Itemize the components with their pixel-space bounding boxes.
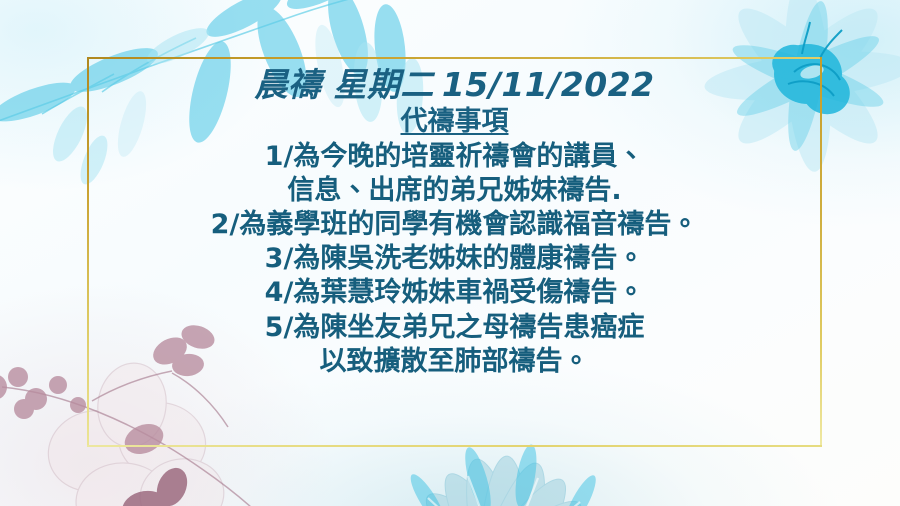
prayer-item: 3/為陳吳洗老姊妹的體康禱告。 [87, 242, 822, 276]
subtitle-underlined-text: 代禱事項 [401, 106, 509, 137]
title-date-text: 15/11/2022 [434, 65, 655, 104]
prayer-item: 信息、出席的弟兄姊妹禱告. [87, 174, 822, 208]
prayer-item: 4/為葉慧玲姊妹車禍受傷禱告。 [87, 276, 822, 310]
title-main-text: 晨禱 星期二 [254, 65, 434, 104]
slide-title: 晨禱 星期二15/11/2022 [87, 57, 822, 104]
slide-content: 晨禱 星期二15/11/2022 代禱事項 1/為今晚的培靈祈禱會的講員、 信息… [87, 57, 822, 447]
slide-subtitle: 代禱事項 [87, 106, 822, 138]
prayer-item: 2/為義學班的同學有機會認識福音禱告。 [87, 208, 822, 242]
prayer-item: 5/為陳坐友弟兄之母禱告患癌症 [87, 311, 822, 345]
prayer-slide: 晨禱 星期二15/11/2022 代禱事項 1/為今晚的培靈祈禱會的講員、 信息… [0, 0, 900, 506]
prayer-item-list: 1/為今晚的培靈祈禱會的講員、 信息、出席的弟兄姊妹禱告. 2/為義學班的同學有… [87, 140, 822, 379]
prayer-item: 以致擴散至肺部禱告。 [87, 345, 822, 379]
prayer-item: 1/為今晚的培靈祈禱會的講員、 [87, 140, 822, 174]
